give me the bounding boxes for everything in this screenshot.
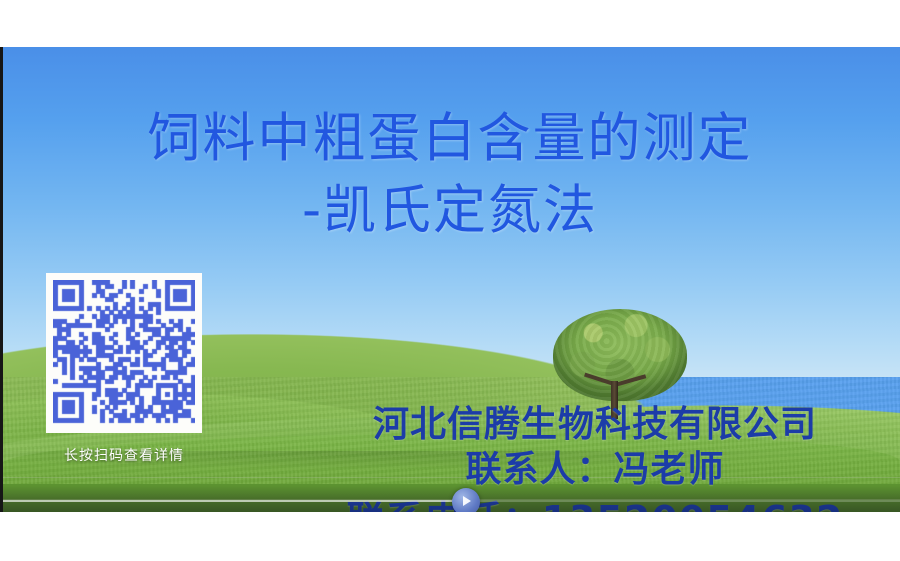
player-progress-track[interactable] [0,500,900,502]
player-control-bar[interactable] [0,486,900,512]
play-triangle [463,496,471,506]
video-player-frame[interactable]: 饲料中粗蛋白含量的测定 -凯氏定氮法 河北信腾生物科技有限公司 联系人：冯老师 … [0,47,900,512]
tree-crown [553,309,687,401]
slide-title: 饲料中粗蛋白含量的测定 -凯氏定氮法 [0,102,900,246]
company-name: 河北信腾生物科技有限公司 [300,405,890,445]
qr-code-panel[interactable] [46,273,202,433]
tree-icon [545,309,695,419]
play-icon[interactable] [452,488,480,512]
slide-title-line-2: -凯氏定氮法 [0,176,900,246]
slide-title-line-1: 饲料中粗蛋白含量的测定 [0,102,900,176]
qr-code-caption: 长按扫码查看详情 [46,445,202,465]
video-frame-left-edge [0,47,3,512]
qr-code-image[interactable] [53,280,195,426]
player-progress-fill [0,500,459,502]
screenshot-root: 饲料中粗蛋白含量的测定 -凯氏定氮法 河北信腾生物科技有限公司 联系人：冯老师 … [0,0,900,561]
